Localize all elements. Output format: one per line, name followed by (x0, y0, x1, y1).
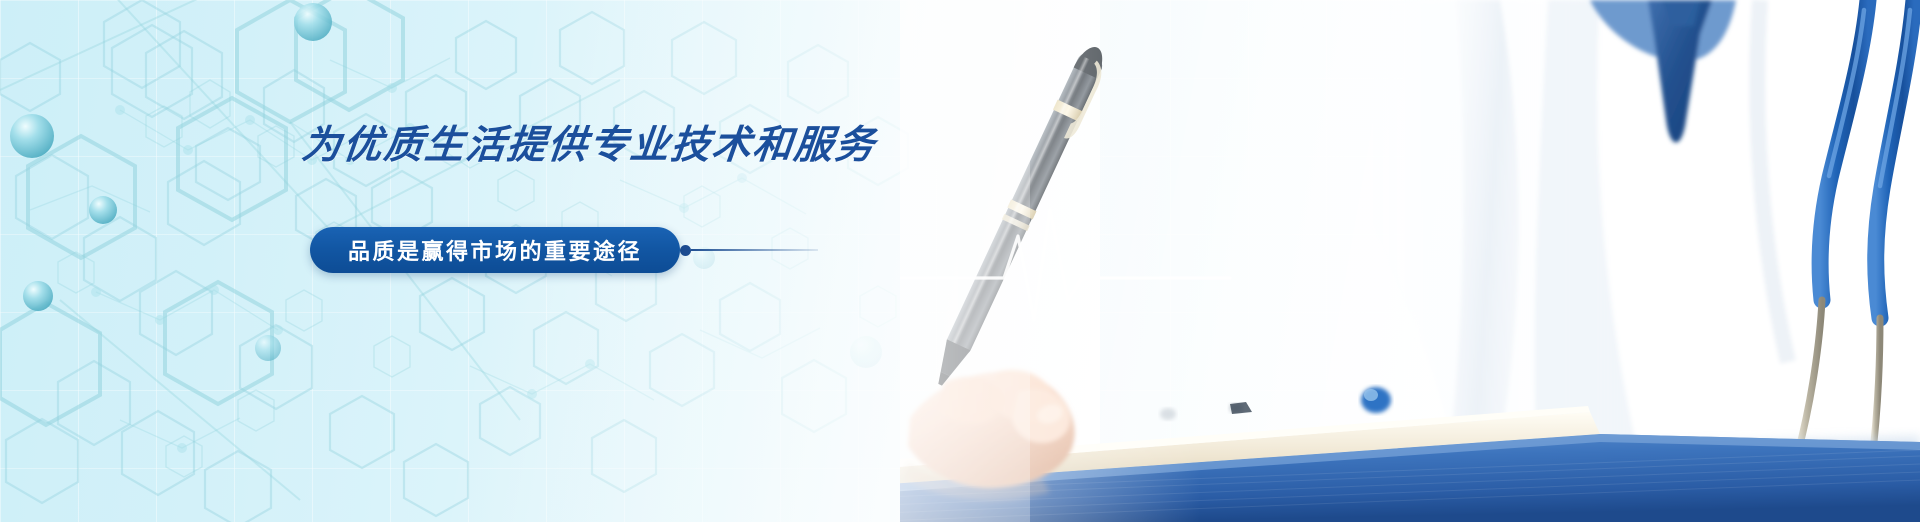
cta-button[interactable]: 品质是赢得市场的重要途径 (310, 227, 680, 273)
divider-line-right (691, 249, 818, 251)
doctor-photo (900, 0, 1920, 522)
banner-headline: 为优质生活提供专业技术和服务 (300, 126, 878, 165)
banner-content: 为优质生活提供专业技术和服务 Quality wins Future 品质是赢得… (0, 0, 900, 522)
hero-banner: 为优质生活提供专业技术和服务 Quality wins Future 品质是赢得… (0, 0, 1920, 522)
divider-dot-right (680, 245, 691, 256)
cta-button-label: 品质是赢得市场的重要途径 (348, 234, 642, 266)
